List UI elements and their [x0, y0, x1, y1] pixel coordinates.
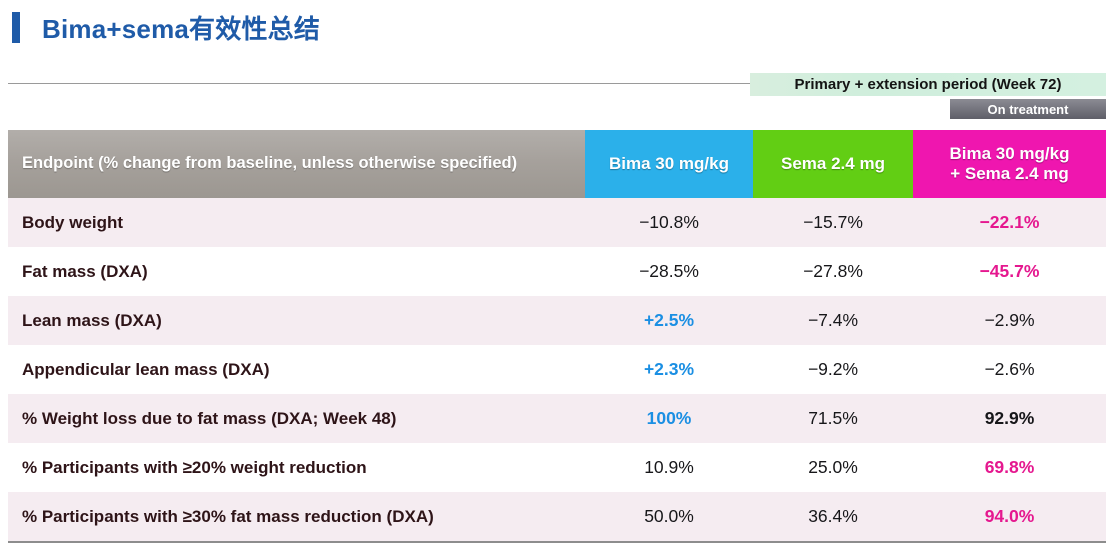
column-header-bima: Bima 30 mg/kg	[585, 130, 753, 198]
cell-value-bima: −28.5%	[585, 247, 753, 296]
table-body: Body weight−10.8%−15.7%−22.1%Fat mass (D…	[8, 198, 1106, 541]
cell-value-combo: 92.9%	[913, 394, 1106, 443]
cell-value-combo: −45.7%	[913, 247, 1106, 296]
period-banner-label: Primary + extension period (Week 72)	[795, 76, 1062, 93]
cell-value-combo: −2.9%	[913, 296, 1106, 345]
cell-value-sema: 36.4%	[753, 492, 913, 541]
period-banner: Primary + extension period (Week 72)	[750, 73, 1106, 96]
cell-value-sema: −7.4%	[753, 296, 913, 345]
cell-endpoint: Lean mass (DXA)	[8, 296, 585, 345]
cell-endpoint: Fat mass (DXA)	[8, 247, 585, 296]
cell-value-bima: 100%	[585, 394, 753, 443]
table-row: Lean mass (DXA)+2.5%−7.4%−2.9%	[8, 296, 1106, 345]
cell-value-sema: −9.2%	[753, 345, 913, 394]
cell-endpoint: Body weight	[8, 198, 585, 247]
cell-endpoint: % Participants with ≥20% weight reductio…	[8, 443, 585, 492]
cell-value-sema: −27.8%	[753, 247, 913, 296]
column-header-endpoint: Endpoint (% change from baseline, unless…	[8, 130, 585, 198]
results-table: Endpoint (% change from baseline, unless…	[8, 130, 1106, 541]
cell-value-sema: 71.5%	[753, 394, 913, 443]
title-accent-bar	[12, 12, 20, 43]
cell-value-combo: −22.1%	[913, 198, 1106, 247]
cell-value-bima: 50.0%	[585, 492, 753, 541]
table-row: Appendicular lean mass (DXA)+2.3%−9.2%−2…	[8, 345, 1106, 394]
column-header-combo-line1: Bima 30 mg/kg	[917, 144, 1102, 164]
cell-value-bima: −10.8%	[585, 198, 753, 247]
cell-endpoint: % Participants with ≥30% fat mass reduct…	[8, 492, 585, 541]
on-treatment-badge: On treatment	[950, 99, 1106, 119]
cell-value-bima: +2.3%	[585, 345, 753, 394]
cell-value-combo: 94.0%	[913, 492, 1106, 541]
cell-value-bima: +2.5%	[585, 296, 753, 345]
table-row: % Weight loss due to fat mass (DXA; Week…	[8, 394, 1106, 443]
table-row: % Participants with ≥20% weight reductio…	[8, 443, 1106, 492]
results-table-container: Endpoint (% change from baseline, unless…	[8, 130, 1106, 541]
cell-value-sema: −15.7%	[753, 198, 913, 247]
column-header-combo-line2: + Sema 2.4 mg	[917, 164, 1102, 184]
table-row: Fat mass (DXA)−28.5%−27.8%−45.7%	[8, 247, 1106, 296]
table-row: Body weight−10.8%−15.7%−22.1%	[8, 198, 1106, 247]
table-header-row: Endpoint (% change from baseline, unless…	[8, 130, 1106, 198]
slide-header: Bima+sema有效性总结	[0, 6, 1106, 48]
cell-endpoint: % Weight loss due to fat mass (DXA; Week…	[8, 394, 585, 443]
on-treatment-label: On treatment	[988, 102, 1069, 117]
table-bottom-divider	[8, 541, 1106, 543]
table-row: % Participants with ≥30% fat mass reduct…	[8, 492, 1106, 541]
page-title: Bima+sema有效性总结	[42, 9, 320, 46]
column-header-combo: Bima 30 mg/kg + Sema 2.4 mg	[913, 130, 1106, 198]
cell-value-bima: 10.9%	[585, 443, 753, 492]
column-header-sema: Sema 2.4 mg	[753, 130, 913, 198]
table-head: Endpoint (% change from baseline, unless…	[8, 130, 1106, 198]
cell-value-combo: −2.6%	[913, 345, 1106, 394]
cell-value-sema: 25.0%	[753, 443, 913, 492]
cell-endpoint: Appendicular lean mass (DXA)	[8, 345, 585, 394]
cell-value-combo: 69.8%	[913, 443, 1106, 492]
